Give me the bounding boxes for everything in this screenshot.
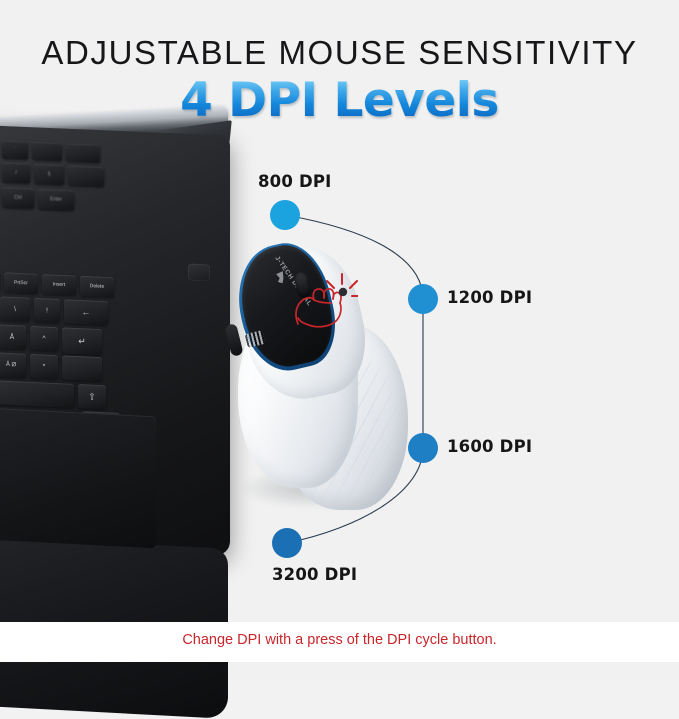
dpi-dot-3200[interactable] xyxy=(272,528,302,558)
page-subtitle: 4 DPI Levels xyxy=(180,77,499,124)
header: ADJUSTABLE MOUSE SENSITIVITY 4 DPI Level… xyxy=(0,0,679,140)
subtitle-wrap: 4 DPI Levels xyxy=(0,77,679,124)
dpi-label-1200: 1200 DPI xyxy=(447,288,532,307)
dpi-label-3200: 3200 DPI xyxy=(272,565,357,584)
page-title: ADJUSTABLE MOUSE SENSITIVITY xyxy=(0,0,679,69)
footer-caption: Change DPI with a press of the DPI cycle… xyxy=(0,632,679,648)
dpi-dot-1600[interactable] xyxy=(408,433,438,463)
dpi-label-1600: 1600 DPI xyxy=(447,437,532,456)
dpi-label-800: 800 DPI xyxy=(258,172,332,191)
dpi-dot-800[interactable] xyxy=(270,200,300,230)
dpi-dot-1200[interactable] xyxy=(408,284,438,314)
infographic-canvas: ADJUSTABLE MOUSE SENSITIVITY 4 DPI Level… xyxy=(0,0,679,679)
